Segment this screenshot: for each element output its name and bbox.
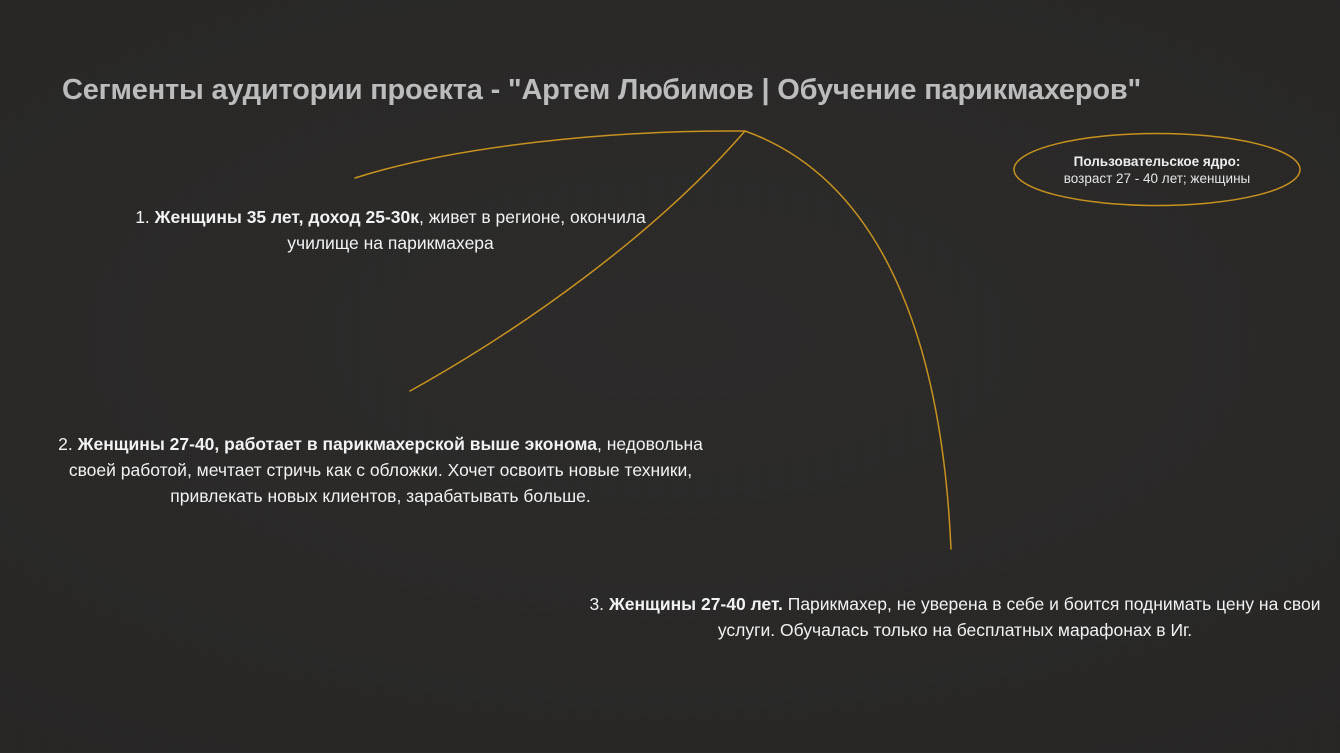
- segment-2-number: 2.: [58, 434, 73, 454]
- curve-right-descending: [745, 131, 951, 549]
- core-badge-title: Пользовательское ядро:: [1074, 153, 1241, 170]
- segment-3-body: Парикмахер, не уверена в себе и боится п…: [718, 594, 1321, 640]
- core-badge-detail: возраст 27 - 40 лет; женщины: [1064, 170, 1250, 187]
- audience-segment-1: 1. Женщины 35 лет, доход 25-30к, живет в…: [118, 204, 663, 256]
- segment-3-number: 3.: [589, 594, 604, 614]
- segment-1-lead: Женщины 35 лет, доход 25-30к: [155, 207, 419, 227]
- page-title: Сегменты аудитории проекта - "Артем Люби…: [62, 71, 1302, 109]
- curve-lower-left: [410, 131, 745, 391]
- slide-canvas: Сегменты аудитории проекта - "Артем Люби…: [0, 0, 1340, 753]
- audience-segment-3: 3. Женщины 27-40 лет. Парикмахер, не уве…: [585, 591, 1325, 643]
- audience-segment-2: 2. Женщины 27-40, работает в парикмахерс…: [58, 431, 703, 509]
- segment-3-lead: Женщины 27-40 лет.: [609, 594, 783, 614]
- segment-2-lead: Женщины 27-40, работает в парикмахерской…: [78, 434, 597, 454]
- core-audience-badge: Пользовательское ядро: возраст 27 - 40 л…: [1013, 133, 1301, 206]
- segment-1-number: 1.: [135, 207, 150, 227]
- curve-upper-left: [355, 131, 745, 178]
